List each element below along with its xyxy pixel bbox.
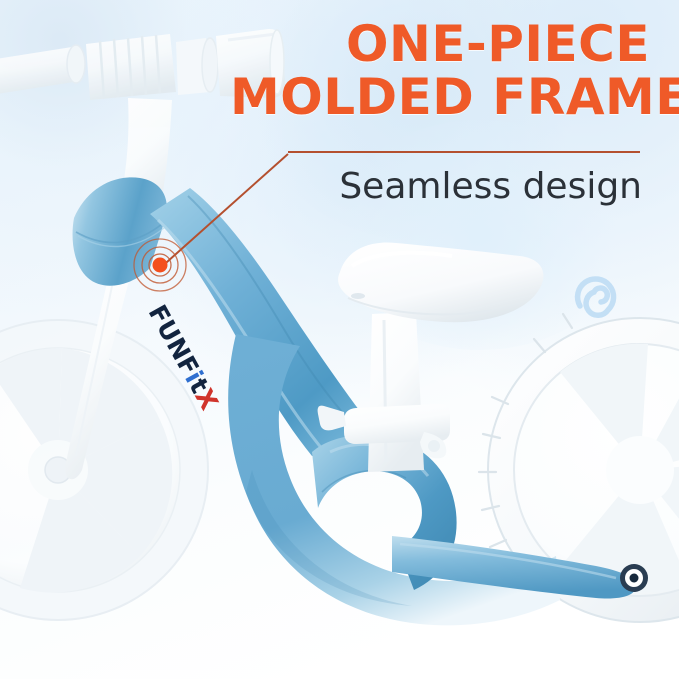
balance-bike-illustration <box>0 0 679 679</box>
callout-rule <box>288 151 640 153</box>
subheadline: Seamless design <box>250 166 642 208</box>
stem-clamp <box>86 34 176 100</box>
rear-axle-hub <box>620 564 648 592</box>
saddle <box>338 243 543 323</box>
spiral-swirl-icon <box>568 266 626 324</box>
product-marketing-image: FUNFitX ONE-PIECE MOLDED FRAME Seamless … <box>0 0 679 679</box>
callout-target-marker <box>128 233 192 297</box>
